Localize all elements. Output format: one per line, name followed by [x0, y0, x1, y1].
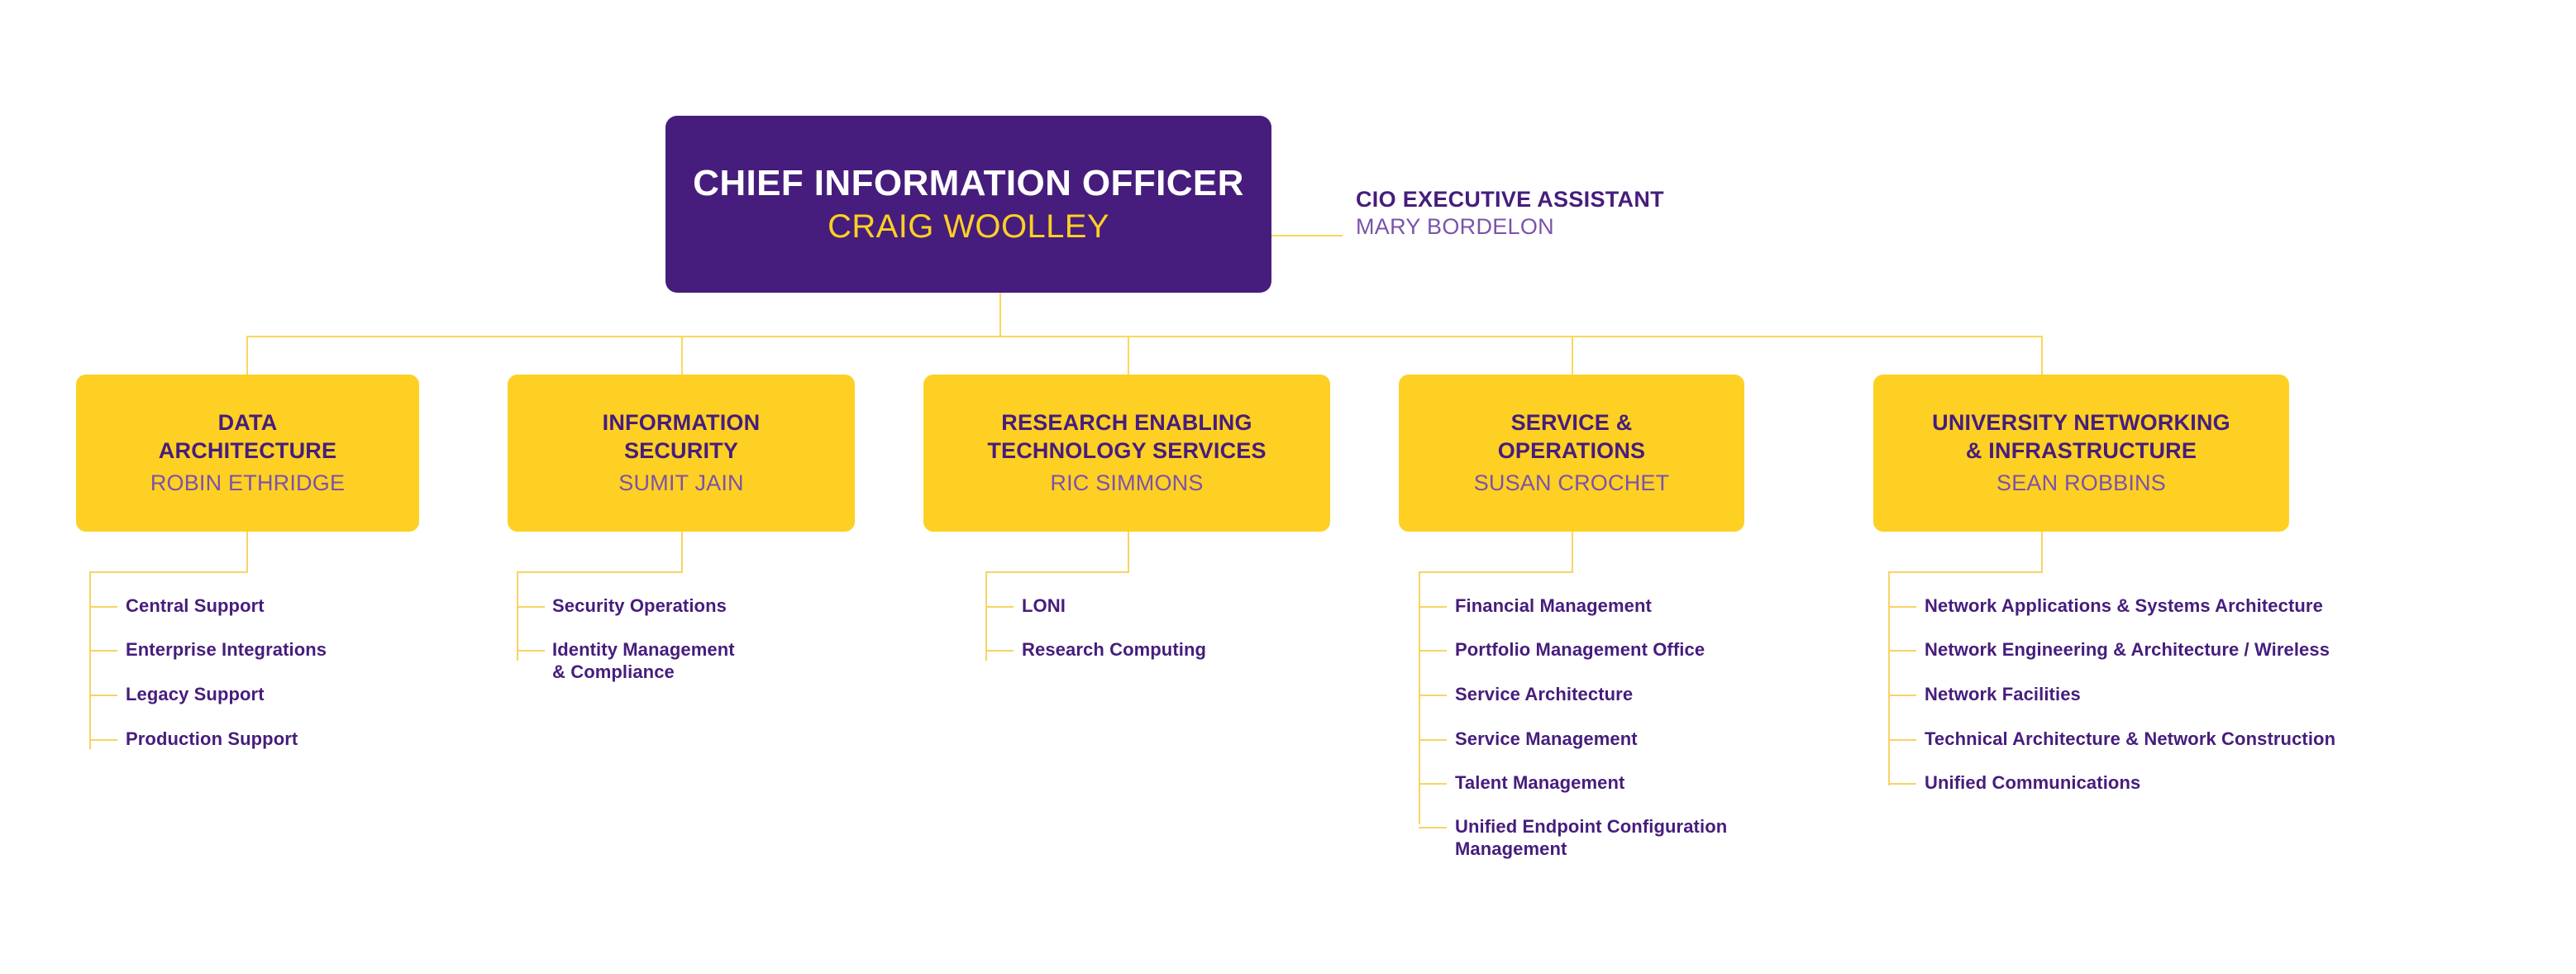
- cio-title: CHIEF INFORMATION OFFICER: [693, 163, 1244, 203]
- division-leader: SUMIT JAIN: [618, 469, 744, 498]
- sub-item-label[interactable]: Financial Management: [1455, 595, 1652, 618]
- connector-division-5-jog: [1888, 571, 2043, 573]
- sub-item-label[interactable]: Service Architecture: [1455, 684, 1633, 706]
- connector-division-4-tick-2: [1419, 650, 1447, 652]
- sub-item-label[interactable]: Enterprise Integrations: [126, 639, 327, 661]
- sub-item-label[interactable]: Network Engineering & Architecture / Wir…: [1925, 639, 2330, 661]
- division-title: DATA ARCHITECTURE: [159, 408, 336, 466]
- connector-division-2-tick-1: [517, 606, 545, 608]
- connector-division-4-tick-5: [1419, 783, 1447, 785]
- connector-division-1-spine: [89, 571, 91, 749]
- connector-division-3-jog: [985, 571, 1129, 573]
- sub-item-label[interactable]: Identity Management & Compliance: [552, 639, 735, 684]
- connector-drop-division-3: [1128, 336, 1129, 375]
- division-leader: SEAN ROBBINS: [1996, 469, 2166, 498]
- cio-name: CRAIG WOOLLEY: [828, 208, 1109, 246]
- connector-division-5-spine: [1888, 571, 1890, 785]
- connector-division-2-spine: [517, 571, 518, 661]
- node-division-service-and-operations[interactable]: SERVICE & OPERATIONS SUSAN CROCHET: [1399, 375, 1744, 532]
- connector-division-1-tick-3: [89, 695, 117, 696]
- connector-division-4-stem: [1572, 532, 1573, 572]
- connector-division-1-tick-4: [89, 739, 117, 741]
- node-division-university-networking-and-infrastructure[interactable]: UNIVERSITY NETWORKING & INFRASTRUCTURE S…: [1873, 375, 2289, 532]
- division-leader: SUSAN CROCHET: [1474, 469, 1670, 498]
- sub-item-label[interactable]: Research Computing: [1022, 639, 1206, 661]
- sub-item-label[interactable]: Central Support: [126, 595, 265, 618]
- sub-item-label[interactable]: LONI: [1022, 595, 1066, 618]
- division-leader: ROBIN ETHRIDGE: [150, 469, 345, 498]
- org-chart-canvas: CHIEF INFORMATION OFFICER CRAIG WOOLLEY …: [0, 0, 2576, 974]
- connector-division-5-tick-1: [1888, 606, 1916, 608]
- connector-division-4-tick-6: [1419, 827, 1447, 828]
- division-title: UNIVERSITY NETWORKING & INFRASTRUCTURE: [1932, 408, 2230, 466]
- connector-division-4-jog: [1419, 571, 1573, 573]
- connector-division-1-tick-1: [89, 606, 117, 608]
- connector-division-3-stem: [1128, 532, 1129, 572]
- connector-division-4-spine: [1419, 571, 1420, 824]
- connector-division-1-stem: [246, 532, 248, 572]
- connector-drop-division-1: [246, 336, 248, 375]
- connector-division-bus: [246, 336, 2043, 337]
- node-cio-executive-assistant[interactable]: CIO EXECUTIVE ASSISTANT MARY BORDELON: [1356, 186, 1819, 241]
- connector-division-4-tick-3: [1419, 695, 1447, 696]
- connector-division-2-stem: [681, 532, 683, 572]
- connector-division-2-jog: [517, 571, 683, 573]
- sub-item-label[interactable]: Network Facilities: [1925, 684, 2081, 706]
- node-division-data-architecture[interactable]: DATA ARCHITECTURE ROBIN ETHRIDGE: [76, 375, 419, 532]
- connector-division-5-tick-3: [1888, 695, 1916, 696]
- sub-item-label[interactable]: Production Support: [126, 728, 298, 751]
- division-title: INFORMATION SECURITY: [603, 408, 761, 466]
- node-division-information-security[interactable]: INFORMATION SECURITY SUMIT JAIN: [508, 375, 855, 532]
- connector-division-5-tick-4: [1888, 739, 1916, 741]
- connector-drop-division-5: [2041, 336, 2043, 375]
- sub-item-label[interactable]: Security Operations: [552, 595, 727, 618]
- connector-division-5-tick-2: [1888, 650, 1916, 652]
- connector-division-3-tick-1: [985, 606, 1014, 608]
- sub-item-label[interactable]: Unified Communications: [1925, 772, 2140, 795]
- division-title: RESEARCH ENABLING TECHNOLOGY SERVICES: [987, 408, 1266, 466]
- node-chief-information-officer[interactable]: CHIEF INFORMATION OFFICER CRAIG WOOLLEY: [665, 116, 1271, 293]
- connector-division-5-stem: [2041, 532, 2043, 572]
- connector-division-3-spine: [985, 571, 987, 661]
- sub-item-label[interactable]: Talent Management: [1455, 772, 1624, 795]
- sub-item-label[interactable]: Technical Architecture & Network Constru…: [1925, 728, 2335, 751]
- node-division-research-enabling-technology-services[interactable]: RESEARCH ENABLING TECHNOLOGY SERVICES RI…: [923, 375, 1330, 532]
- connector-division-3-tick-2: [985, 650, 1014, 652]
- division-leader: RIC SIMMONS: [1050, 469, 1203, 498]
- sub-item-label[interactable]: Legacy Support: [126, 684, 265, 706]
- connector-division-2-tick-2: [517, 650, 545, 652]
- division-title: SERVICE & OPERATIONS: [1498, 408, 1646, 466]
- connector-cio-to-assistant: [1271, 235, 1343, 236]
- connector-cio-trunk: [999, 293, 1001, 337]
- sub-item-label[interactable]: Network Applications & Systems Architect…: [1925, 595, 2323, 618]
- connector-division-5-tick-5: [1888, 783, 1916, 785]
- connector-division-4-tick-1: [1419, 606, 1447, 608]
- connector-division-4-tick-4: [1419, 739, 1447, 741]
- sub-item-label[interactable]: Service Management: [1455, 728, 1638, 751]
- connector-division-1-jog: [89, 571, 248, 573]
- connector-drop-division-2: [681, 336, 683, 375]
- connector-division-1-tick-2: [89, 650, 117, 652]
- connector-drop-division-4: [1572, 336, 1573, 375]
- assistant-title: CIO EXECUTIVE ASSISTANT: [1356, 186, 1819, 213]
- assistant-name: MARY BORDELON: [1356, 213, 1819, 241]
- sub-item-label[interactable]: Unified Endpoint Configuration Managemen…: [1455, 816, 1727, 861]
- sub-item-label[interactable]: Portfolio Management Office: [1455, 639, 1705, 661]
